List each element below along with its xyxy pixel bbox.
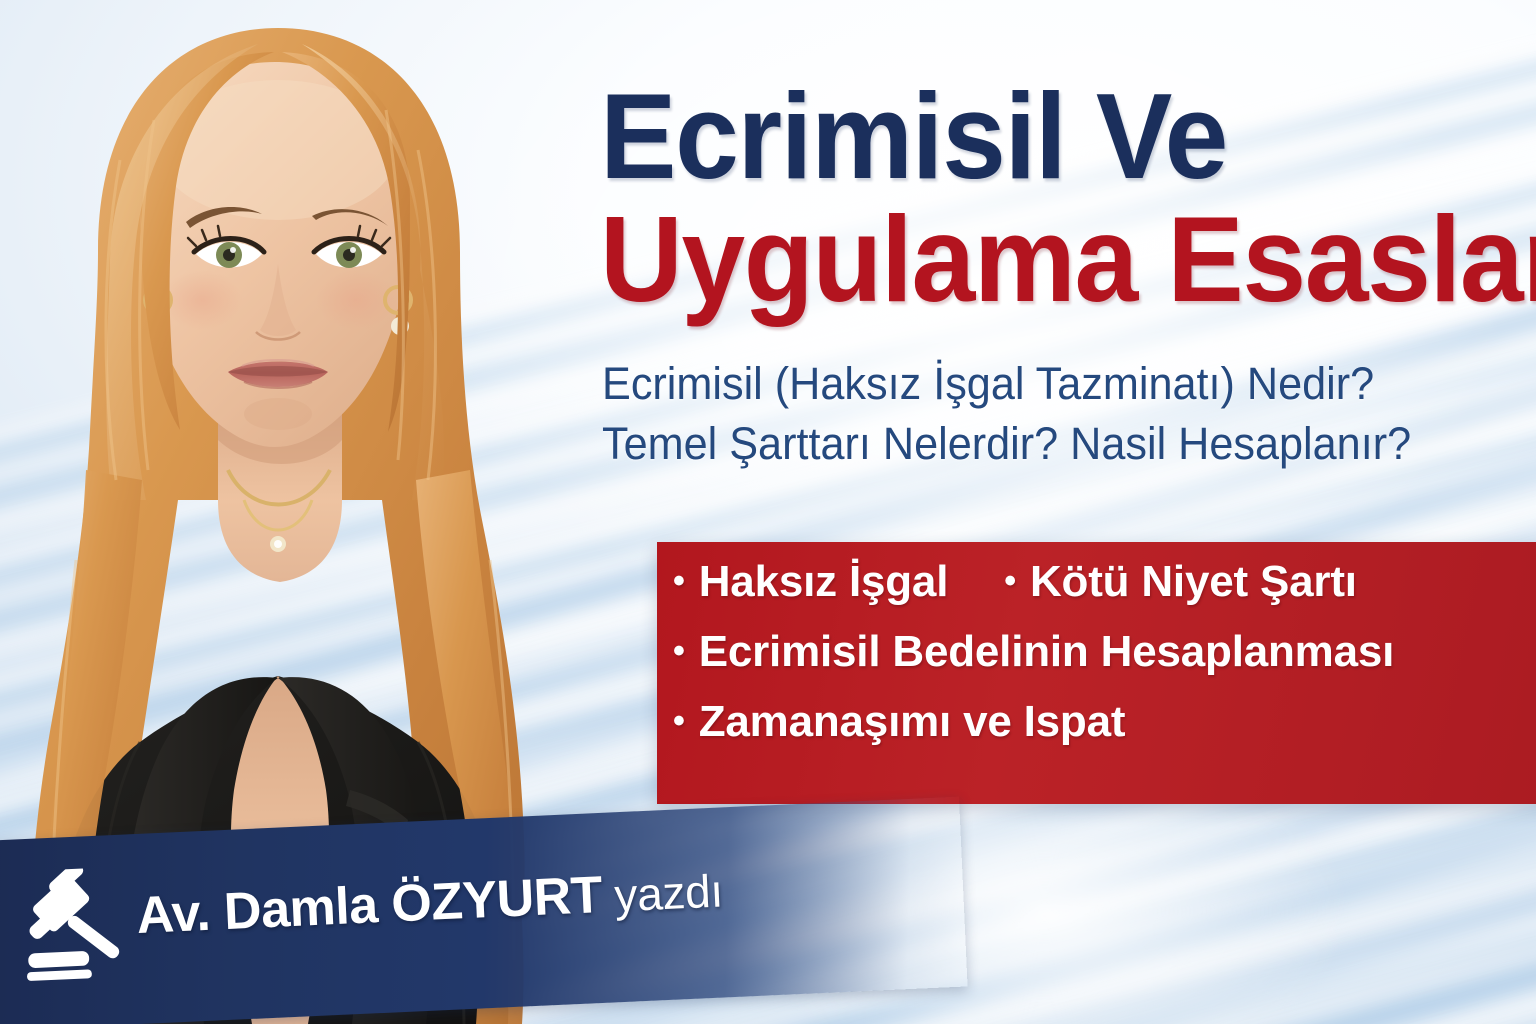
bullet-icon: • (673, 634, 685, 668)
gavel-icon (16, 867, 129, 984)
list-item: • Haksız İşgal • Kötü Niyet Şartı (673, 560, 1536, 604)
subtitle-line-1: Ecrimisil (Haksız İşgal Tazminatı) Nedir… (602, 354, 1495, 414)
bullet-icon: • (673, 704, 685, 738)
topic-label-4: Zamanaşımı ve Ispat (699, 700, 1126, 744)
topic-label-2: Kötü Niyet Şartı (1030, 560, 1357, 604)
subtitle: Ecrimisil (Haksız İşgal Tazminatı) Nedir… (602, 354, 1495, 474)
list-item: • Ecrimisil Bedelinin Hesaplanması (673, 630, 1536, 674)
page-title: Ecrimisil Ve Uygulama Esasları (600, 78, 1520, 318)
bullet-icon: • (1004, 564, 1016, 598)
byline-text: Av. Damla ÖZYURT yazdı (135, 859, 724, 946)
list-item: • Zamanaşımı ve Ispat (673, 700, 1536, 744)
topics-list: • Haksız İşgal • Kötü Niyet Şartı • Ecri… (657, 542, 1536, 804)
byline-suffix: yazdı (601, 864, 724, 921)
topics-panel: • Haksız İşgal • Kötü Niyet Şartı • Ecri… (657, 542, 1536, 804)
topic-label-3: Ecrimisil Bedelinin Hesaplanması (699, 630, 1394, 674)
author-name: Av. Damla ÖZYURT (135, 866, 603, 945)
topic-label-1: Haksız İşgal (699, 560, 949, 604)
subtitle-line-2: Temel Şarttarı Nelerdir? Nasil Hesaplanı… (602, 414, 1495, 474)
headline-line-1: Ecrimisil Ve (600, 78, 1465, 195)
bullet-icon: • (673, 564, 685, 598)
byline-content: Av. Damla ÖZYURT yazdı (16, 834, 725, 978)
poster-canvas: Ecrimisil Ve Uygulama Esasları Ecrimisil… (0, 0, 1536, 1024)
headline-line-2: Uygulama Esasları (600, 201, 1465, 318)
